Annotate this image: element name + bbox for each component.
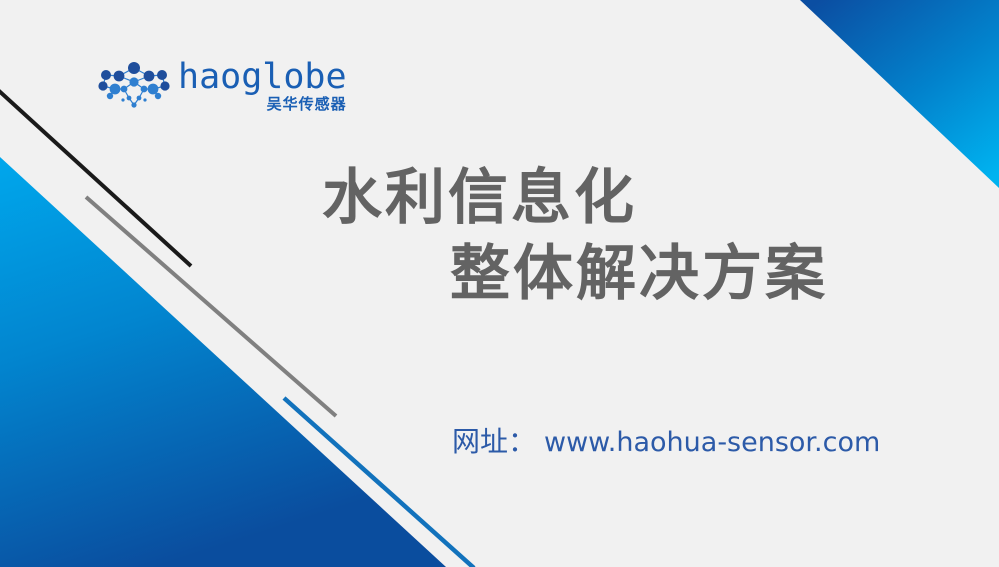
title-line-2: 整体解决方案 bbox=[310, 236, 930, 312]
black-diagonal-line bbox=[0, 90, 191, 266]
company-logo: haoglobe 吴华传感器 bbox=[96, 58, 347, 116]
haoglobe-molecule-logo-icon bbox=[96, 58, 172, 116]
website-url[interactable]: www.haohua-sensor.com bbox=[544, 427, 880, 458]
title-line-1: 水利信息化 bbox=[310, 160, 930, 236]
gray-diagonal-line bbox=[86, 197, 336, 416]
logo-wordmark: haoglobe bbox=[178, 60, 347, 94]
website-line: 网址： www.haohua-sensor.com bbox=[452, 420, 880, 460]
slide-canvas: haoglobe 吴华传感器 水利信息化 整体解决方案 网址： www.haoh… bbox=[0, 0, 999, 567]
website-label: 网址： bbox=[452, 420, 536, 460]
logo-subtitle: 吴华传感器 bbox=[267, 95, 347, 113]
blue-diagonal-line bbox=[284, 398, 474, 567]
page-title: 水利信息化 整体解决方案 bbox=[310, 160, 930, 312]
logo-text: haoglobe 吴华传感器 bbox=[178, 58, 347, 113]
